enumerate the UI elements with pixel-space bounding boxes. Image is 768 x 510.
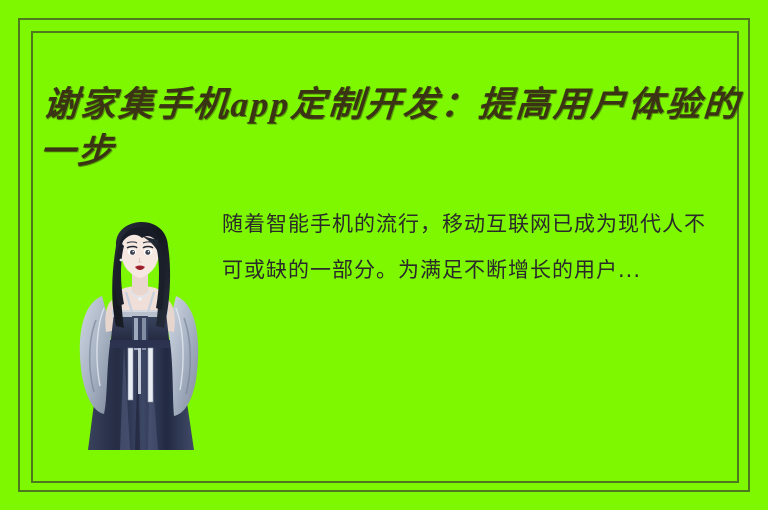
article-illustration (78, 200, 202, 452)
article-card: 谢家集手机app定制开发：提高用户体验的一步 (0, 0, 768, 510)
hanfu-woman-figure (78, 200, 202, 452)
page-title: 谢家集手机app定制开发：提高用户体验的一步 (38, 81, 743, 175)
article-excerpt: 随着智能手机的流行，移动互联网已成为现代人不可或缺的一部分。为满足不断增长的用户… (222, 201, 722, 293)
